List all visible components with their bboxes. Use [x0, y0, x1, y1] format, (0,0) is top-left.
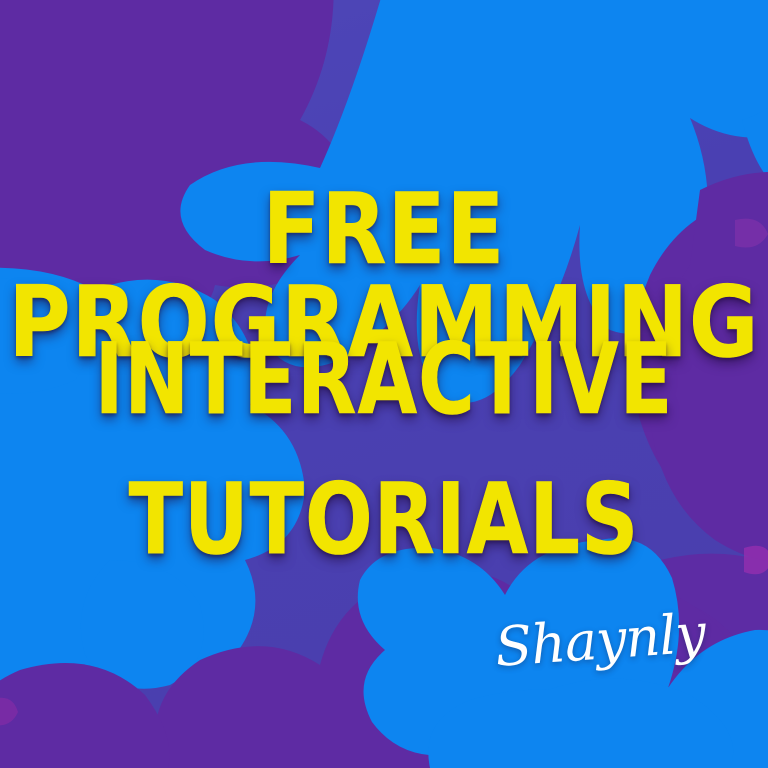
decorative-background [0, 0, 768, 768]
poster-canvas: FREE PROGRAMMING INTERACTIVE TUTORIALS S… [0, 0, 768, 768]
